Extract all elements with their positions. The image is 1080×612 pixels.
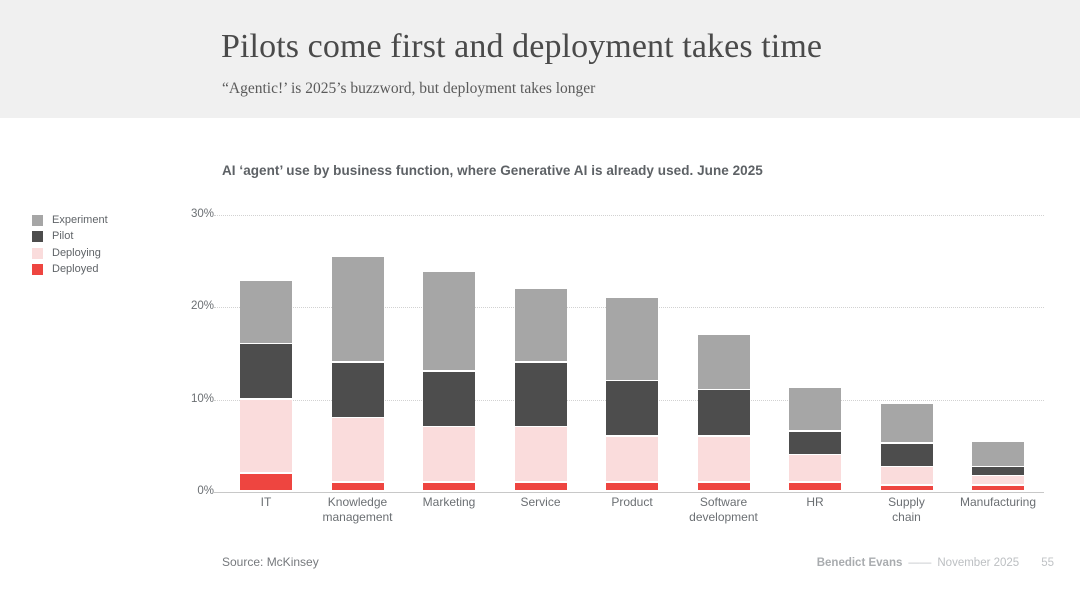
- bar-segment-deployed[interactable]: [881, 486, 933, 491]
- chart-legend: ExperimentPilotDeployingDeployed: [32, 214, 108, 276]
- y-axis-labels: 0%10%20%30%: [168, 215, 214, 492]
- bar-segment-deploying[interactable]: [698, 437, 750, 482]
- bar-segment-deployed[interactable]: [423, 483, 475, 491]
- bar-segment-deployed[interactable]: [789, 483, 841, 491]
- legend-item[interactable]: Experiment: [32, 214, 108, 226]
- bar-segment-deploying[interactable]: [881, 467, 933, 484]
- y-axis-tick: 10%: [168, 394, 214, 405]
- bar-segment-experiment[interactable]: [606, 298, 658, 380]
- bar-segment-experiment[interactable]: [515, 289, 567, 361]
- legend-swatch-experiment: [32, 215, 43, 226]
- bar-group[interactable]: [881, 215, 933, 492]
- bar-segment-deploying[interactable]: [423, 427, 475, 481]
- page-number: 55: [1019, 557, 1054, 569]
- bar-segment-pilot[interactable]: [881, 444, 933, 466]
- legend-item[interactable]: Deploying: [32, 247, 108, 259]
- bar-group[interactable]: [606, 215, 658, 492]
- legend-item[interactable]: Pilot: [32, 231, 108, 243]
- bar-segment-experiment[interactable]: [972, 442, 1024, 465]
- legend-swatch-pilot: [32, 231, 43, 242]
- legend-label: Deployed: [52, 264, 98, 275]
- footer-dash: ——: [902, 557, 937, 569]
- bar-segment-deployed[interactable]: [240, 474, 292, 491]
- bar-group[interactable]: [515, 215, 567, 492]
- bar-group[interactable]: [698, 215, 750, 492]
- bar-segment-deploying[interactable]: [789, 455, 841, 481]
- bar-segment-pilot[interactable]: [423, 372, 475, 426]
- legend-label: Experiment: [52, 215, 108, 226]
- bar-group[interactable]: [423, 215, 475, 492]
- bar-segment-deploying[interactable]: [972, 476, 1024, 484]
- bar-segment-experiment[interactable]: [881, 404, 933, 442]
- legend-label: Pilot: [52, 231, 73, 242]
- bar-group[interactable]: [972, 215, 1024, 492]
- legend-item[interactable]: Deployed: [32, 264, 108, 276]
- bar-segment-experiment[interactable]: [240, 281, 292, 342]
- bar-segment-pilot[interactable]: [515, 363, 567, 426]
- bar-segment-deployed[interactable]: [515, 483, 567, 491]
- bar-segment-pilot[interactable]: [789, 432, 841, 454]
- legend-swatch-deployed: [32, 264, 43, 275]
- source-note: Source: McKinsey: [222, 555, 319, 569]
- x-axis-label: Manufacturing: [938, 495, 1058, 510]
- y-axis-tick: 30%: [168, 209, 214, 220]
- bar-segment-deployed[interactable]: [972, 486, 1024, 491]
- bar-segment-experiment[interactable]: [423, 272, 475, 370]
- bar-segment-experiment[interactable]: [698, 335, 750, 389]
- bar-segment-deploying[interactable]: [332, 418, 384, 481]
- bar-segment-experiment[interactable]: [332, 257, 384, 362]
- footer-author: Benedict Evans: [817, 557, 903, 569]
- legend-label: Deploying: [52, 248, 101, 259]
- page-subtitle: “Agentic!’ is 2025’s buzzword, but deplo…: [222, 79, 595, 99]
- x-axis-labels: ITKnowledgemanagementMarketingServicePro…: [214, 495, 1044, 535]
- bar-segment-deployed[interactable]: [332, 483, 384, 491]
- bar-segment-pilot[interactable]: [698, 390, 750, 435]
- bar-segment-deploying[interactable]: [515, 427, 567, 481]
- bar-segment-deployed[interactable]: [698, 483, 750, 491]
- footer-meta: Benedict Evans —— November 2025 55: [817, 557, 1054, 569]
- bar-segment-deploying[interactable]: [606, 437, 658, 482]
- bar-group[interactable]: [332, 215, 384, 492]
- bar-segment-deploying[interactable]: [240, 400, 292, 472]
- bar-segment-pilot[interactable]: [240, 344, 292, 398]
- footer-date: November 2025: [937, 557, 1019, 569]
- bar-group[interactable]: [789, 215, 841, 492]
- bar-group[interactable]: [240, 215, 292, 492]
- bar-segment-pilot[interactable]: [972, 467, 1024, 475]
- legend-swatch-deploying: [32, 248, 43, 259]
- chart-title: AI ‘agent’ use by business function, whe…: [222, 163, 763, 178]
- gridline: [214, 492, 1044, 493]
- y-axis-tick: 20%: [168, 301, 214, 312]
- bar-segment-experiment[interactable]: [789, 388, 841, 431]
- chart-bars: [214, 215, 1044, 492]
- page-title: Pilots come first and deployment takes t…: [221, 26, 822, 68]
- bar-segment-pilot[interactable]: [606, 381, 658, 435]
- bar-segment-pilot[interactable]: [332, 363, 384, 417]
- bar-segment-deployed[interactable]: [606, 483, 658, 491]
